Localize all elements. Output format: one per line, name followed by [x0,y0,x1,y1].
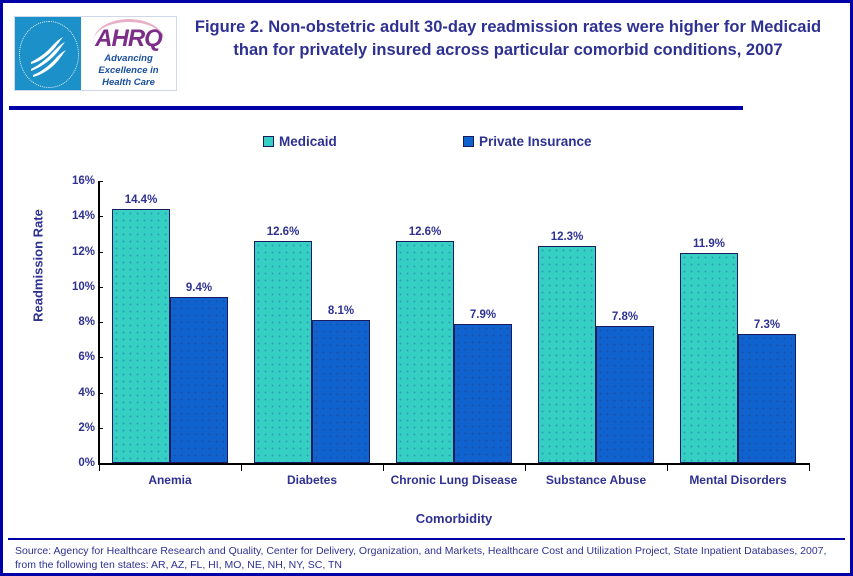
y-tick-mark [98,463,103,464]
y-tick-label: 16% [49,175,95,187]
y-tick-label: 4% [49,387,95,399]
y-tick-label: 2% [49,422,95,434]
y-tick-label: 6% [49,351,95,363]
bar-value-label: 7.8% [612,311,638,323]
bar-private-insurance: 7.3% [738,334,796,463]
y-tick-label: 8% [49,316,95,328]
bar-value-label: 7.9% [470,309,496,321]
x-category-label: Anemia [99,473,241,488]
y-tick-mark [98,428,103,429]
x-axis-separator-tick [383,464,384,471]
figure-container: AHRQ Advancing Excellence in Health Care… [0,0,853,576]
bar-value-label: 8.1% [328,305,354,317]
bar-value-label: 14.4% [125,194,158,206]
x-axis-title: Comorbidity [99,511,809,526]
y-tick-mark [98,357,103,358]
bar-value-label: 12.6% [409,226,442,238]
y-tick-label: 12% [49,246,95,258]
x-category-label: Chronic Lung Disease [383,473,525,488]
bar-medicaid: 14.4% [112,209,170,463]
x-axis-separator-tick [99,464,100,471]
y-tick-label: 14% [49,210,95,222]
bar-private-insurance: 7.9% [454,324,512,463]
bar-private-insurance: 7.8% [596,326,654,463]
y-tick-mark [98,322,103,323]
x-axis-line [98,463,810,465]
bar-medicaid: 11.9% [680,253,738,463]
y-tick-mark [98,216,103,217]
bar-private-insurance: 9.4% [170,297,228,463]
footer-divider [8,538,845,540]
bar-group: 12.3%7.8% [525,181,667,463]
y-axis-title: Readmission Rate [31,186,46,346]
bar-value-label: 12.3% [551,231,584,243]
bar-group: 12.6%8.1% [241,181,383,463]
y-tick-mark [98,287,103,288]
x-category-label: Substance Abuse [525,473,667,488]
bar-private-insurance: 8.1% [312,320,370,463]
bar-value-label: 7.3% [754,319,780,331]
bar-value-label: 12.6% [267,226,300,238]
bar-medicaid: 12.6% [396,241,454,463]
x-axis-separator-tick [525,464,526,471]
x-category-label: Mental Disorders [667,473,809,488]
plot-area: 14.4%9.4%12.6%8.1%12.6%7.9%12.3%7.8%11.9… [99,181,809,463]
y-axis-tick-labels: 0%2%4%6%8%10%12%14%16% [45,3,95,573]
x-axis-separator-tick [809,464,810,471]
y-tick-label: 0% [49,457,95,469]
bar-value-label: 11.9% [693,238,725,250]
x-axis-separator-tick [667,464,668,471]
bar-medicaid: 12.3% [538,246,596,463]
bar-medicaid: 12.6% [254,241,312,463]
x-category-label: Diabetes [241,473,383,488]
bar-chart: Readmission Rate 0%2%4%6%8%10%12%14%16% … [3,3,850,573]
bar-group: 12.6%7.9% [383,181,525,463]
bar-group: 11.9%7.3% [667,181,809,463]
y-tick-label: 10% [49,281,95,293]
y-tick-mark [98,252,103,253]
bar-value-label: 9.4% [186,282,212,294]
y-tick-mark [98,181,103,182]
y-tick-mark [98,393,103,394]
x-axis-separator-tick [241,464,242,471]
bar-group: 14.4%9.4% [99,181,241,463]
source-note: Source: Agency for Healthcare Research a… [15,544,841,572]
